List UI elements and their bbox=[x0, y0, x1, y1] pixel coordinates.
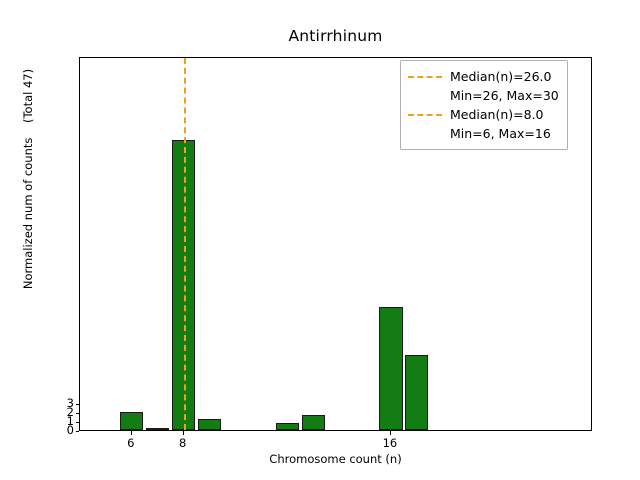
x-axis-label: Chromosome count (n) bbox=[79, 452, 592, 466]
bar bbox=[302, 415, 325, 430]
legend-item-label: Min=26, Max=30 bbox=[450, 88, 559, 103]
legend-item: Median(n)=8.0 bbox=[408, 105, 559, 124]
x-tick-mark bbox=[183, 431, 184, 435]
bar bbox=[379, 307, 402, 430]
x-tick-label: 8 bbox=[163, 436, 203, 450]
x-tick-label: 6 bbox=[111, 436, 151, 450]
legend-item-label: Min=6, Max=16 bbox=[450, 126, 551, 141]
chart-title: Antirrhinum bbox=[79, 27, 592, 45]
y-tick-mark bbox=[76, 422, 80, 423]
y-tick-label: 3 bbox=[54, 398, 74, 410]
legend-item: Median(n)=26.0 bbox=[408, 67, 559, 86]
median-line bbox=[184, 58, 186, 430]
legend-item-label: Median(n)=8.0 bbox=[450, 107, 544, 122]
chart-figure: Antirrhinum Normalized num of counts (To… bbox=[0, 0, 640, 480]
dashed-line-icon bbox=[408, 76, 442, 78]
bar bbox=[146, 428, 169, 430]
legend-item-label: Median(n)=26.0 bbox=[450, 69, 551, 84]
bar bbox=[405, 355, 428, 430]
chart-legend: Median(n)=26.0 Min=26, Max=30 Median(n)=… bbox=[400, 60, 568, 150]
x-tick-mark bbox=[131, 431, 132, 435]
y-tick-mark bbox=[76, 431, 80, 432]
dashed-line-icon bbox=[408, 114, 442, 116]
y-axis-label: Normalized num of counts (Total 47) bbox=[21, 0, 35, 369]
legend-item: Min=6, Max=16 bbox=[408, 124, 559, 143]
x-tick-label: 16 bbox=[370, 436, 410, 450]
bar bbox=[120, 412, 143, 430]
bar bbox=[276, 423, 299, 430]
bar bbox=[198, 419, 221, 430]
y-tick-mark bbox=[76, 413, 80, 414]
legend-item: Min=26, Max=30 bbox=[408, 86, 559, 105]
y-tick-mark bbox=[76, 404, 80, 405]
x-tick-mark bbox=[390, 431, 391, 435]
